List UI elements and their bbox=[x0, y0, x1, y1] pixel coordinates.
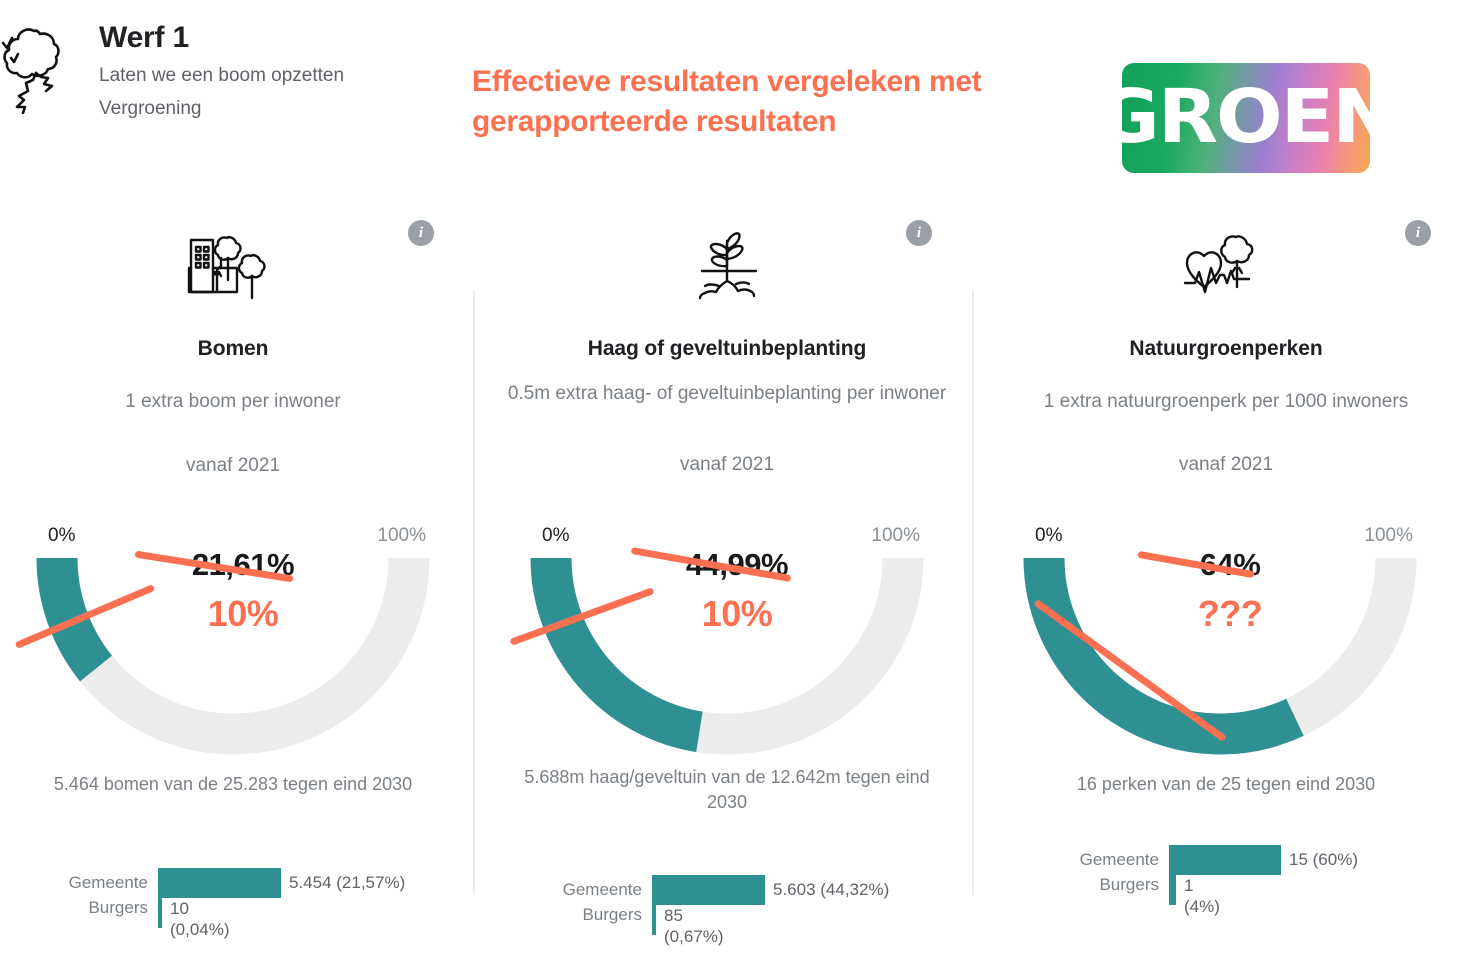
bar-value-pct: (0,67%) bbox=[664, 926, 724, 947]
effective-value: 10% bbox=[138, 593, 348, 635]
category-description: 0.5m extra haag- of geveltuinbeplanting … bbox=[502, 380, 952, 408]
gauge-chart: 0% 100% 64% ??? bbox=[1005, 525, 1435, 775]
groen-logo-text: GROEN bbox=[1122, 80, 1370, 154]
bar-fill bbox=[158, 868, 281, 898]
effective-value: ??? bbox=[1125, 593, 1335, 635]
bar-fill bbox=[652, 875, 765, 905]
bar-row-burgers: Burgers 85 (0,67%) bbox=[494, 905, 960, 951]
page-subtitle-line1: Laten we een boom opzetten bbox=[99, 66, 344, 85]
category-description: 1 extra natuurgroenperk per 1000 inwoner… bbox=[1001, 388, 1451, 416]
metric-columns: i Bomen 1 extra boom per in bbox=[0, 200, 1478, 966]
bar-row-burgers: Burgers 1 (4%) bbox=[993, 875, 1459, 921]
bar-value: 85 (0,67%) bbox=[656, 905, 724, 948]
bar-value-pct: (4%) bbox=[1184, 896, 1220, 917]
bar-value: 1 (4%) bbox=[1176, 875, 1220, 918]
gauge-chart: 0% 100% 21,61% 10% bbox=[18, 525, 448, 775]
contribution-bar-chart: Gemeente 15 (60%) Burgers 1 (4%) bbox=[993, 845, 1459, 921]
bar-label: Gemeente bbox=[0, 873, 158, 893]
column-divider-2 bbox=[972, 290, 974, 895]
column-divider-1 bbox=[473, 290, 475, 895]
effective-value: 10% bbox=[632, 593, 842, 635]
goal-text: 16 perken van de 25 tegen eind 2030 bbox=[1011, 772, 1441, 797]
bar-value-count: 85 bbox=[664, 905, 724, 926]
contribution-bar-chart: Gemeente 5.603 (44,32%) Burgers 85 (0,67… bbox=[494, 875, 960, 951]
main-heading: Effectieve resultaten vergeleken met ger… bbox=[472, 62, 1072, 142]
bar-value-count: 1 bbox=[1184, 875, 1220, 896]
bar-row-gemeente: Gemeente 15 (60%) bbox=[993, 845, 1459, 875]
page-title: Werf 1 bbox=[99, 20, 344, 56]
goal-text: 5.464 bomen van de 25.283 tegen eind 203… bbox=[18, 772, 448, 797]
bar-row-gemeente: Gemeente 5.603 (44,32%) bbox=[494, 875, 960, 905]
reported-value: 21,61% bbox=[138, 547, 348, 583]
city-trees-icon bbox=[0, 222, 466, 312]
bar-label: Burgers bbox=[0, 898, 158, 918]
goal-text: 5.688m haag/geveltuin van de 12.642m teg… bbox=[512, 765, 942, 815]
bar-value-count: 10 bbox=[170, 898, 230, 919]
bar-row-burgers: Burgers 10 (0,04%) bbox=[0, 898, 466, 944]
seedling-roots-icon bbox=[494, 222, 960, 312]
gauge-chart: 0% 100% 44,99% 10% bbox=[512, 525, 942, 775]
bar-row-gemeente: Gemeente 5.454 (21,57%) bbox=[0, 868, 466, 898]
bar-value: 15 (60%) bbox=[1281, 849, 1358, 870]
tree-heartbeat-icon bbox=[993, 222, 1459, 312]
contribution-bar-chart: Gemeente 5.454 (21,57%) Burgers 10 (0,04… bbox=[0, 868, 466, 944]
groen-logo: GROEN bbox=[1122, 63, 1370, 173]
reported-value: 64% bbox=[1125, 547, 1335, 583]
category-title: Bomen bbox=[0, 337, 466, 361]
bar-fill bbox=[1169, 845, 1281, 875]
hand-drawn-tree-icon bbox=[0, 14, 88, 114]
category-since: vanaf 2021 bbox=[494, 454, 960, 476]
bar-value-pct: (0,04%) bbox=[170, 919, 230, 940]
bar-label: Gemeente bbox=[494, 880, 652, 900]
metric-column-haag: i Haag of geveltuinbeplanting bbox=[494, 200, 960, 966]
page-subtitle-line2: Vergroening bbox=[99, 99, 344, 118]
category-since: vanaf 2021 bbox=[0, 455, 466, 477]
header-text-block: Werf 1 Laten we een boom opzetten Vergro… bbox=[99, 20, 344, 118]
bar-label: Gemeente bbox=[993, 850, 1169, 870]
bar-label: Burgers bbox=[494, 905, 652, 925]
category-title: Natuurgroenperken bbox=[993, 337, 1459, 361]
category-description: 1 extra boom per inwoner bbox=[8, 388, 458, 416]
bar-fill bbox=[1169, 875, 1176, 905]
bar-value: 5.454 (21,57%) bbox=[281, 872, 405, 893]
category-since: vanaf 2021 bbox=[993, 454, 1459, 476]
bar-label: Burgers bbox=[993, 875, 1169, 895]
metric-column-natuurgroenperken: i Natuurgroenperken 1 extra natuurgroenp… bbox=[993, 200, 1459, 966]
metric-column-bomen: i Bomen 1 extra boom per in bbox=[0, 200, 466, 966]
bar-value: 5.603 (44,32%) bbox=[765, 879, 889, 900]
bar-value: 10 (0,04%) bbox=[162, 898, 230, 941]
category-title: Haag of geveltuinbeplanting bbox=[494, 337, 960, 361]
page-header: Werf 1 Laten we een boom opzetten Vergro… bbox=[0, 0, 1478, 190]
